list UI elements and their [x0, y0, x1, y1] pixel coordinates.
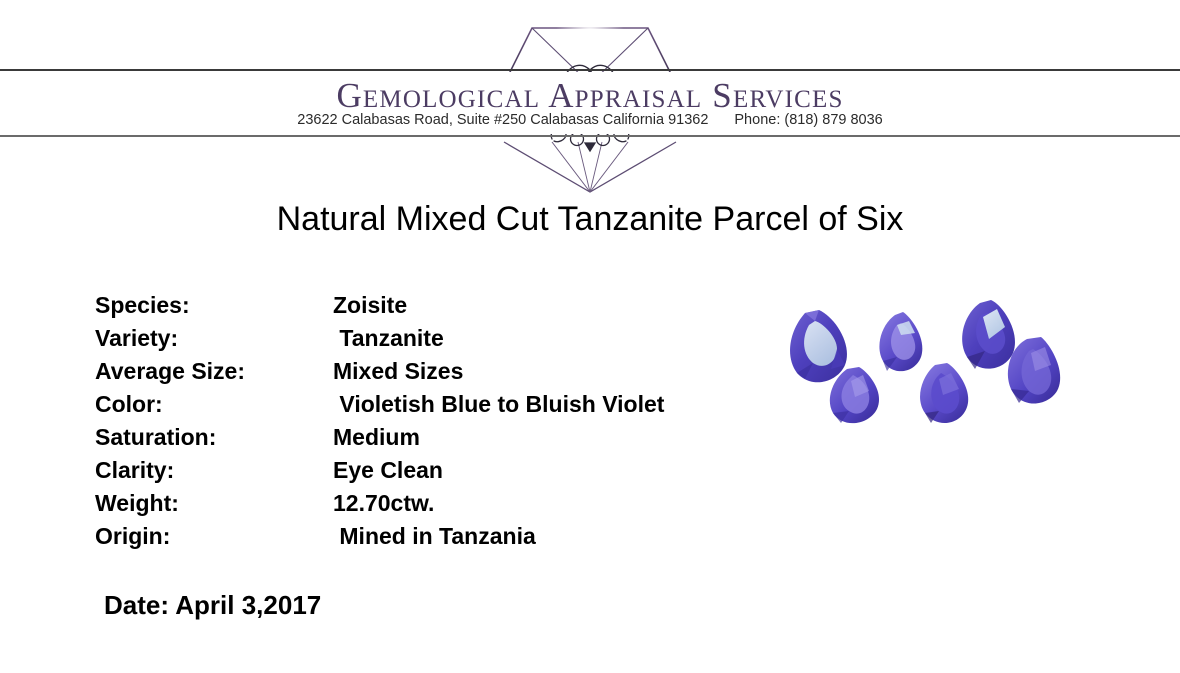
spec-value: Medium	[333, 424, 420, 451]
spec-row-average-size: Average Size: Mixed Sizes	[95, 358, 775, 391]
letterhead: Gemological Appraisal Services 23622 Cal…	[0, 0, 1180, 195]
address-text: 23622 Calabasas Road, Suite #250 Calabas…	[297, 112, 708, 128]
spec-row-weight: Weight: 12.70ctw.	[95, 490, 775, 523]
spec-label: Average Size:	[95, 358, 333, 385]
company-name: Gemological Appraisal Services	[0, 76, 1180, 116]
spec-value: Mixed Sizes	[333, 358, 463, 385]
phone-text: Phone: (818) 879 8036	[734, 112, 882, 128]
page-title: Natural Mixed Cut Tanzanite Parcel of Si…	[0, 200, 1180, 239]
appraisal-date: Date: April 3,2017	[104, 590, 321, 621]
spec-row-clarity: Clarity: Eye Clean	[95, 457, 775, 490]
gemstone-2	[879, 312, 922, 371]
letterhead-rule-bottom	[0, 135, 1180, 137]
spec-value: Mined in Tanzania	[333, 523, 536, 550]
spec-value: Zoisite	[333, 292, 407, 319]
spec-row-variety: Variety: Tanzanite	[95, 325, 775, 358]
spec-row-color: Color: Violetish Blue to Bluish Violet	[95, 391, 775, 424]
spec-label: Saturation:	[95, 424, 333, 451]
gemstone-4	[1008, 337, 1060, 404]
appraisal-document-page: Gemological Appraisal Services 23622 Cal…	[0, 0, 1180, 673]
gemstone-6	[920, 363, 968, 423]
spec-label: Origin:	[95, 523, 333, 550]
letterhead-rule-top	[0, 69, 1180, 71]
spec-label: Variety:	[95, 325, 333, 352]
spec-label: Color:	[95, 391, 333, 418]
gemstone-5	[830, 367, 879, 423]
spec-label: Clarity:	[95, 457, 333, 484]
spec-value: Violetish Blue to Bluish Violet	[333, 391, 664, 418]
spec-value: Eye Clean	[333, 457, 443, 484]
spec-label: Weight:	[95, 490, 333, 517]
spec-value: 12.70ctw.	[333, 490, 434, 517]
spec-row-origin: Origin: Mined in Tanzania	[95, 523, 775, 556]
spec-value: Tanzanite	[333, 325, 444, 352]
tanzanite-gemstones-photo	[775, 295, 1065, 430]
gemstone-1	[790, 310, 847, 382]
spec-row-saturation: Saturation: Medium	[95, 424, 775, 457]
spec-label: Species:	[95, 292, 333, 319]
spec-row-species: Species: Zoisite	[95, 292, 775, 325]
gemstone-3	[962, 300, 1015, 369]
address-and-phone: 23622 Calabasas Road, Suite #250 Calabas…	[0, 112, 1180, 128]
gem-specifications-list: Species: Zoisite Variety: Tanzanite Aver…	[95, 292, 775, 556]
